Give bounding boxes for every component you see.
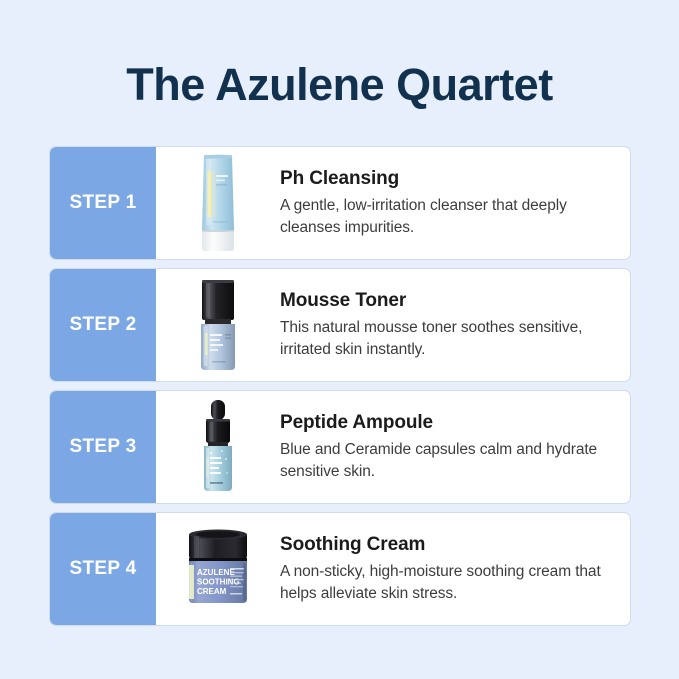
product-image-3 [156,391,280,503]
step-badge-1: STEP 1 [50,147,156,259]
mousse-toner-bottle-icon [187,273,249,377]
soothing-cream-jar-icon: AZULENE SOOTHING CREAM [177,523,259,615]
step-text-4: Soothing Cream A non-sticky, high-moistu… [280,513,630,625]
jar-label-line-3: CREAM [197,587,227,596]
product-routine-infographic: The Azulene Quartet STEP 1 [0,0,679,679]
step-row[interactable]: STEP 1 [49,146,631,260]
step-title-3: Peptide Ampoule [280,411,610,435]
step-text-3: Peptide Ampoule Blue and Ceramide capsul… [280,391,630,503]
step-badge-3: STEP 3 [50,391,156,503]
step-title-4: Soothing Cream [280,533,610,557]
jar-label-line-1: AZULENE [197,568,235,577]
step-description-2: This natural mousse toner soothes sensit… [280,317,610,361]
product-image-4: AZULENE SOOTHING CREAM [156,513,280,625]
peptide-ampoule-dropper-icon [187,395,249,499]
page-title: The Azulene Quartet [0,60,679,110]
step-description-3: Blue and Ceramide capsules calm and hydr… [280,439,610,483]
step-title-2: Mousse Toner [280,289,610,313]
step-row[interactable]: STEP 3 [49,390,631,504]
step-title-1: Ph Cleansing [280,167,610,191]
product-image-2 [156,269,280,381]
step-badge-2: STEP 2 [50,269,156,381]
step-description-1: A gentle, low-irritation cleanser that d… [280,195,610,239]
step-text-2: Mousse Toner This natural mousse toner s… [280,269,630,381]
cleanser-tube-icon [183,151,253,255]
steps-list: STEP 1 [49,146,631,626]
product-image-1 [156,147,280,259]
step-text-1: Ph Cleansing A gentle, low-irritation cl… [280,147,630,259]
step-row[interactable]: STEP 4 [49,512,631,626]
step-row[interactable]: STEP 2 [49,268,631,382]
step-description-4: A non-sticky, high-moisture soothing cre… [280,561,610,605]
jar-label-line-2: SOOTHING [197,578,240,587]
step-badge-4: STEP 4 [50,513,156,625]
